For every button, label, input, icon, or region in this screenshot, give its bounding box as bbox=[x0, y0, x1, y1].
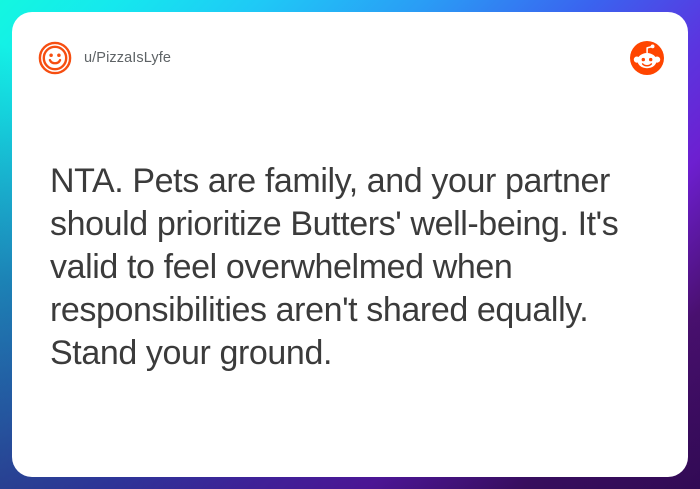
card-body: NTA. Pets are family, and your partner s… bbox=[50, 160, 654, 375]
author-block[interactable]: u/PizzaIsLyfe bbox=[38, 41, 171, 75]
smiley-face-icon bbox=[38, 41, 72, 75]
comment-card: u/PizzaIsLyfe bbox=[12, 12, 688, 477]
author-username: u/PizzaIsLyfe bbox=[84, 50, 171, 66]
reddit-snoo-icon[interactable] bbox=[630, 41, 664, 75]
card-header: u/PizzaIsLyfe bbox=[12, 12, 688, 104]
reddit-comment-card-screenshot: u/PizzaIsLyfe bbox=[0, 0, 700, 489]
post-text: NTA. Pets are family, and your partner s… bbox=[50, 160, 654, 375]
